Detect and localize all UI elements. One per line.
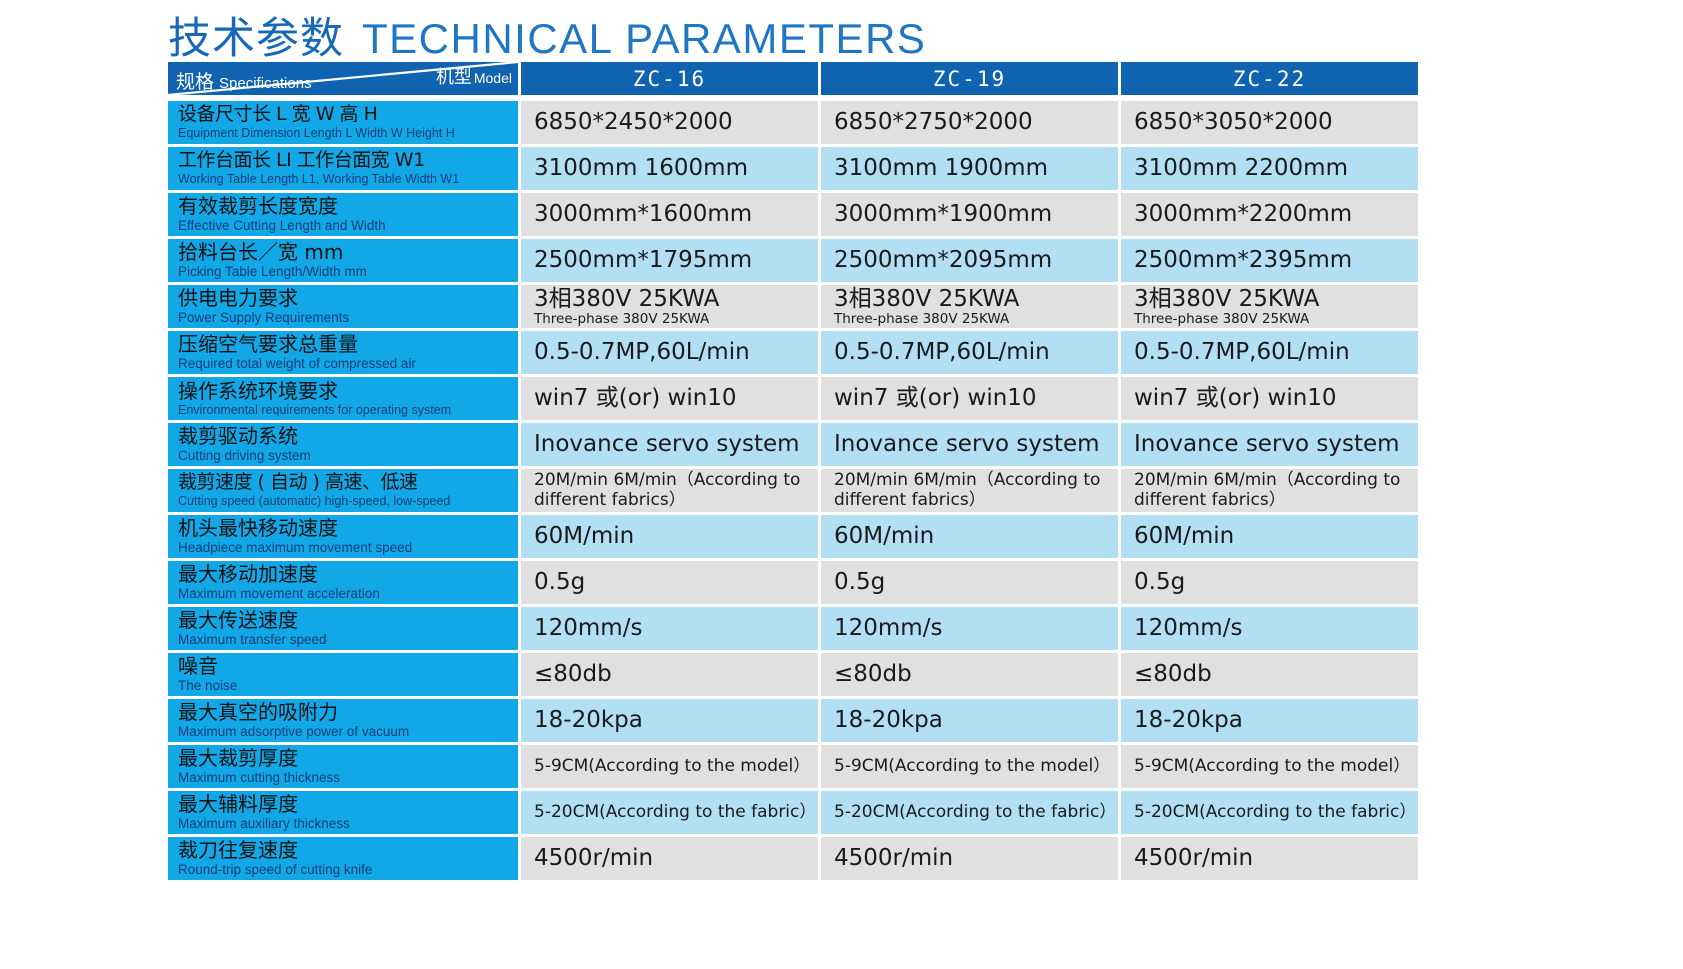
row-value-cell: 4500r/min xyxy=(521,837,818,880)
model-header-zc19: ZC-19 xyxy=(821,62,1118,95)
page-title-english: TECHNICAL PARAMETERS xyxy=(362,15,926,63)
row-label-english: Power Supply Requirements xyxy=(178,310,518,326)
row-value-text: 60M/min xyxy=(534,523,818,549)
row-value-text: 4500r/min xyxy=(534,845,818,871)
row-value-text: 3000mm*1900mm xyxy=(834,201,1118,227)
table-row: 供电电力要求Power Supply Requirements3相380V 25… xyxy=(168,285,1418,328)
row-value-cell: 0.5g xyxy=(521,561,818,604)
row-value-text: 3100mm 1600mm xyxy=(534,155,818,181)
row-label-chinese: 供电电力要求 xyxy=(178,287,518,309)
row-value-cell: 3相380V 25KWAThree-phase 380V 25KWA xyxy=(521,285,818,328)
row-label-cell: 裁剪速度 ( 自动 ) 高速、低速Cutting speed (automati… xyxy=(168,469,518,512)
row-label-cell: 操作系统环境要求Environmental requirements for o… xyxy=(168,377,518,420)
row-label-chinese: 裁剪驱动系统 xyxy=(178,425,518,447)
row-value-cell: ≤80db xyxy=(1121,653,1418,696)
row-label-english: Maximum movement acceleration xyxy=(178,586,518,602)
row-value-cell: Inovance servo system xyxy=(1121,423,1418,466)
model-header-chinese: 机型 xyxy=(436,63,472,89)
table-row: 工作台面长 LI 工作台面宽 W1Working Table Length L1… xyxy=(168,147,1418,190)
row-value-cell: 3000mm*1600mm xyxy=(521,193,818,236)
row-value-text: 4500r/min xyxy=(1134,845,1418,871)
row-label-chinese: 最大传送速度 xyxy=(178,609,518,631)
row-value-text: 2500mm*1795mm xyxy=(534,247,818,273)
row-value-cell: 4500r/min xyxy=(1121,837,1418,880)
row-value-text: 6850*3050*2000 xyxy=(1134,109,1418,135)
row-value-text: 5-20CM(According to the fabric） xyxy=(1134,803,1418,822)
row-value-cell: 0.5g xyxy=(1121,561,1418,604)
row-value-text: 3相380V 25KWA xyxy=(834,286,1118,312)
row-value-subtext: Three-phase 380V 25KWA xyxy=(834,312,1118,328)
row-value-text: 0.5g xyxy=(834,569,1118,595)
row-label-english: Working Table Length L1, Working Table W… xyxy=(178,172,518,186)
row-label-cell: 压缩空气要求总重量Required total weight of compre… xyxy=(168,331,518,374)
row-value-text: 60M/min xyxy=(1134,523,1418,549)
row-value-cell: 5-9CM(According to the model） xyxy=(521,745,818,788)
row-value-cell: 3100mm 1600mm xyxy=(521,147,818,190)
row-label-english: Maximum transfer speed xyxy=(178,632,518,648)
row-value-text: 6850*2750*2000 xyxy=(834,109,1118,135)
row-value-text: 5-9CM(According to the model） xyxy=(834,757,1118,776)
row-label-chinese: 裁剪速度 ( 自动 ) 高速、低速 xyxy=(178,472,518,493)
row-value-text: 3100mm 2200mm xyxy=(1134,155,1418,181)
row-label-cell: 拾料台长／宽 mmPicking Table Length/Width mm xyxy=(168,239,518,282)
row-value-text: 20M/min 6M/min（According to different fa… xyxy=(534,471,818,509)
row-value-text: 3100mm 1900mm xyxy=(834,155,1118,181)
row-label-cell: 最大真空的吸附力Maximum adsorptive power of vacu… xyxy=(168,699,518,742)
row-value-text: 5-9CM(According to the model） xyxy=(1134,757,1418,776)
row-label-english: Maximum auxiliary thickness xyxy=(178,816,518,832)
row-value-cell: 18-20kpa xyxy=(821,699,1118,742)
row-value-cell: 3相380V 25KWAThree-phase 380V 25KWA xyxy=(821,285,1118,328)
row-value-cell: 3100mm 1900mm xyxy=(821,147,1118,190)
specifications-table: 规格 Specifications 机型 Model ZC-16 ZC-19 Z… xyxy=(168,62,1418,880)
row-value-text: ≤80db xyxy=(534,661,818,687)
row-value-cell: 5-20CM(According to the fabric） xyxy=(1121,791,1418,834)
row-label-english: Effective Cutting Length and Width xyxy=(178,218,518,234)
row-label-cell: 供电电力要求Power Supply Requirements xyxy=(168,285,518,328)
row-value-text: 20M/min 6M/min（According to different fa… xyxy=(1134,471,1418,509)
row-value-cell: 5-20CM(According to the fabric） xyxy=(521,791,818,834)
row-value-cell: 2500mm*1795mm xyxy=(521,239,818,282)
row-label-chinese: 操作系统环境要求 xyxy=(178,380,518,402)
row-value-text: 0.5-0.7MP,60L/min xyxy=(1134,339,1418,365)
row-value-text: 3相380V 25KWA xyxy=(534,286,818,312)
table-body: 设备尺寸长 L 宽 W 高 HEquipment Dimension Lengt… xyxy=(168,101,1418,880)
row-value-cell: 0.5g xyxy=(821,561,1118,604)
row-label-chinese: 最大辅料厚度 xyxy=(178,793,518,815)
row-value-cell: 0.5-0.7MP,60L/min xyxy=(521,331,818,374)
row-value-text: 0.5g xyxy=(534,569,818,595)
row-value-cell: Inovance servo system xyxy=(821,423,1118,466)
row-label-cell: 最大移动加速度Maximum movement acceleration xyxy=(168,561,518,604)
row-value-text: 6850*2450*2000 xyxy=(534,109,818,135)
row-value-text: 18-20kpa xyxy=(834,707,1118,733)
row-value-cell: 6850*3050*2000 xyxy=(1121,101,1418,144)
row-value-cell: ≤80db xyxy=(821,653,1118,696)
table-row: 操作系统环境要求Environmental requirements for o… xyxy=(168,377,1418,420)
technical-parameters-page: 技术参数 TECHNICAL PARAMETERS 规格 Specificati… xyxy=(0,0,1683,969)
table-row: 拾料台长／宽 mmPicking Table Length/Width mm25… xyxy=(168,239,1418,282)
row-label-cell: 裁刀往复速度Round-trip speed of cutting knife xyxy=(168,837,518,880)
row-label-english: Cutting driving system xyxy=(178,448,518,464)
row-label-chinese: 工作台面长 LI 工作台面宽 W1 xyxy=(178,150,518,171)
row-value-subtext: Three-phase 380V 25KWA xyxy=(1134,312,1418,328)
table-row: 最大辅料厚度Maximum auxiliary thickness5-20CM(… xyxy=(168,791,1418,834)
row-label-chinese: 拾料台长／宽 mm xyxy=(178,241,518,263)
row-value-subtext: Three-phase 380V 25KWA xyxy=(534,312,818,328)
row-value-cell: 3000mm*2200mm xyxy=(1121,193,1418,236)
row-value-cell: 4500r/min xyxy=(821,837,1118,880)
row-value-cell: 6850*2750*2000 xyxy=(821,101,1118,144)
row-value-text: 3000mm*2200mm xyxy=(1134,201,1418,227)
row-value-text: 5-9CM(According to the model） xyxy=(534,757,818,776)
row-label-chinese: 裁刀往复速度 xyxy=(178,839,518,861)
row-label-chinese: 噪音 xyxy=(178,655,518,677)
row-value-cell: 0.5-0.7MP,60L/min xyxy=(1121,331,1418,374)
table-row: 最大真空的吸附力Maximum adsorptive power of vacu… xyxy=(168,699,1418,742)
model-header-english: Model xyxy=(474,70,512,86)
page-title: 技术参数 TECHNICAL PARAMETERS xyxy=(168,4,926,66)
row-value-text: 120mm/s xyxy=(1134,615,1418,641)
table-row: 裁剪驱动系统Cutting driving systemInovance ser… xyxy=(168,423,1418,466)
row-label-english: Maximum cutting thickness xyxy=(178,770,518,786)
table-row: 噪音The noise≤80db≤80db≤80db xyxy=(168,653,1418,696)
row-value-cell: 120mm/s xyxy=(821,607,1118,650)
row-value-text: win7 或(or) win10 xyxy=(1134,385,1418,411)
table-row: 最大传送速度Maximum transfer speed120mm/s120mm… xyxy=(168,607,1418,650)
row-value-text: 3000mm*1600mm xyxy=(534,201,818,227)
row-value-cell: Inovance servo system xyxy=(521,423,818,466)
row-value-text: 18-20kpa xyxy=(1134,707,1418,733)
row-label-english: Headpiece maximum movement speed xyxy=(178,540,518,556)
row-value-text: 18-20kpa xyxy=(534,707,818,733)
table-row: 机头最快移动速度Headpiece maximum movement speed… xyxy=(168,515,1418,558)
row-value-cell: 3相380V 25KWAThree-phase 380V 25KWA xyxy=(1121,285,1418,328)
row-value-text: Inovance servo system xyxy=(1134,431,1418,457)
row-label-english: Cutting speed (automatic) high-speed, lo… xyxy=(178,494,518,508)
table-row: 裁剪速度 ( 自动 ) 高速、低速Cutting speed (automati… xyxy=(168,469,1418,512)
row-value-cell: 18-20kpa xyxy=(1121,699,1418,742)
model-header-zc22: ZC-22 xyxy=(1121,62,1418,95)
spec-header-chinese: 规格 xyxy=(176,67,214,94)
row-value-cell: 18-20kpa xyxy=(521,699,818,742)
row-label-cell: 最大传送速度Maximum transfer speed xyxy=(168,607,518,650)
table-row: 最大裁剪厚度Maximum cutting thickness5-9CM(Acc… xyxy=(168,745,1418,788)
row-value-cell: 5-20CM(According to the fabric） xyxy=(821,791,1118,834)
row-value-cell: 60M/min xyxy=(1121,515,1418,558)
row-label-chinese: 机头最快移动速度 xyxy=(178,517,518,539)
row-value-cell: ≤80db xyxy=(521,653,818,696)
row-value-cell: win7 或(or) win10 xyxy=(521,377,818,420)
row-value-text: 2500mm*2095mm xyxy=(834,247,1118,273)
header-corner-cell: 规格 Specifications 机型 Model xyxy=(168,62,518,95)
row-value-text: ≤80db xyxy=(834,661,1118,687)
row-value-cell: 2500mm*2395mm xyxy=(1121,239,1418,282)
row-label-chinese: 设备尺寸长 L 宽 W 高 H xyxy=(178,104,518,125)
row-value-text: ≤80db xyxy=(1134,661,1418,687)
row-value-text: win7 或(or) win10 xyxy=(534,385,818,411)
row-value-cell: 5-9CM(According to the model） xyxy=(1121,745,1418,788)
model-header-zc16: ZC-16 xyxy=(521,62,818,95)
table-row: 有效裁剪长度宽度Effective Cutting Length and Wid… xyxy=(168,193,1418,236)
table-row: 压缩空气要求总重量Required total weight of compre… xyxy=(168,331,1418,374)
row-value-cell: 120mm/s xyxy=(521,607,818,650)
row-value-text: win7 或(or) win10 xyxy=(834,385,1118,411)
row-value-text: 2500mm*2395mm xyxy=(1134,247,1418,273)
table-row: 最大移动加速度Maximum movement acceleration0.5g… xyxy=(168,561,1418,604)
table-row: 裁刀往复速度Round-trip speed of cutting knife4… xyxy=(168,837,1418,880)
row-label-cell: 有效裁剪长度宽度Effective Cutting Length and Wid… xyxy=(168,193,518,236)
row-value-text: Inovance servo system xyxy=(834,431,1118,457)
row-label-chinese: 有效裁剪长度宽度 xyxy=(178,195,518,217)
row-value-cell: 3100mm 2200mm xyxy=(1121,147,1418,190)
row-value-cell: 20M/min 6M/min（According to different fa… xyxy=(821,469,1118,512)
row-value-text: Inovance servo system xyxy=(534,431,818,457)
row-label-chinese: 最大裁剪厚度 xyxy=(178,747,518,769)
row-value-text: 20M/min 6M/min（According to different fa… xyxy=(834,471,1118,509)
row-value-cell: 0.5-0.7MP,60L/min xyxy=(821,331,1118,374)
row-value-cell: 5-9CM(According to the model） xyxy=(821,745,1118,788)
row-label-english: Environmental requirements for operating… xyxy=(178,403,518,417)
row-label-english: Equipment Dimension Length L Width W Hei… xyxy=(178,126,518,140)
row-value-text: 120mm/s xyxy=(834,615,1118,641)
row-value-text: 3相380V 25KWA xyxy=(1134,286,1418,312)
row-value-text: 120mm/s xyxy=(534,615,818,641)
model-header-label: 机型 Model xyxy=(436,63,512,89)
row-label-english: Picking Table Length/Width mm xyxy=(178,264,518,280)
row-label-cell: 工作台面长 LI 工作台面宽 W1Working Table Length L1… xyxy=(168,147,518,190)
row-value-cell: 60M/min xyxy=(821,515,1118,558)
page-title-chinese: 技术参数 xyxy=(168,4,344,66)
row-label-chinese: 最大真空的吸附力 xyxy=(178,701,518,723)
row-value-text: 4500r/min xyxy=(834,845,1118,871)
row-value-text: 0.5-0.7MP,60L/min xyxy=(534,339,818,365)
row-value-cell: 20M/min 6M/min（According to different fa… xyxy=(521,469,818,512)
row-value-cell: win7 或(or) win10 xyxy=(821,377,1118,420)
table-header-row: 规格 Specifications 机型 Model ZC-16 ZC-19 Z… xyxy=(168,62,1418,95)
row-value-cell: 3000mm*1900mm xyxy=(821,193,1118,236)
row-label-chinese: 压缩空气要求总重量 xyxy=(178,333,518,355)
row-label-cell: 机头最快移动速度Headpiece maximum movement speed xyxy=(168,515,518,558)
row-value-text: 0.5g xyxy=(1134,569,1418,595)
row-value-text: 5-20CM(According to the fabric） xyxy=(834,803,1118,822)
row-label-english: Maximum adsorptive power of vacuum xyxy=(178,724,518,740)
row-value-text: 5-20CM(According to the fabric） xyxy=(534,803,818,822)
row-label-chinese: 最大移动加速度 xyxy=(178,563,518,585)
table-row: 设备尺寸长 L 宽 W 高 HEquipment Dimension Lengt… xyxy=(168,101,1418,144)
row-label-cell: 噪音The noise xyxy=(168,653,518,696)
row-value-text: 60M/min xyxy=(834,523,1118,549)
row-value-cell: win7 或(or) win10 xyxy=(1121,377,1418,420)
row-label-english: The noise xyxy=(178,678,518,694)
row-label-cell: 最大裁剪厚度Maximum cutting thickness xyxy=(168,745,518,788)
row-label-english: Required total weight of compressed air xyxy=(178,356,518,372)
spec-header-english: Specifications xyxy=(219,75,312,92)
row-value-cell: 6850*2450*2000 xyxy=(521,101,818,144)
spec-header-label: 规格 Specifications xyxy=(176,67,312,94)
row-label-english: Round-trip speed of cutting knife xyxy=(178,862,518,878)
row-value-cell: 120mm/s xyxy=(1121,607,1418,650)
row-value-cell: 60M/min xyxy=(521,515,818,558)
row-label-cell: 裁剪驱动系统Cutting driving system xyxy=(168,423,518,466)
row-value-text: 0.5-0.7MP,60L/min xyxy=(834,339,1118,365)
row-label-cell: 设备尺寸长 L 宽 W 高 HEquipment Dimension Lengt… xyxy=(168,101,518,144)
row-label-cell: 最大辅料厚度Maximum auxiliary thickness xyxy=(168,791,518,834)
row-value-cell: 20M/min 6M/min（According to different fa… xyxy=(1121,469,1418,512)
row-value-cell: 2500mm*2095mm xyxy=(821,239,1118,282)
